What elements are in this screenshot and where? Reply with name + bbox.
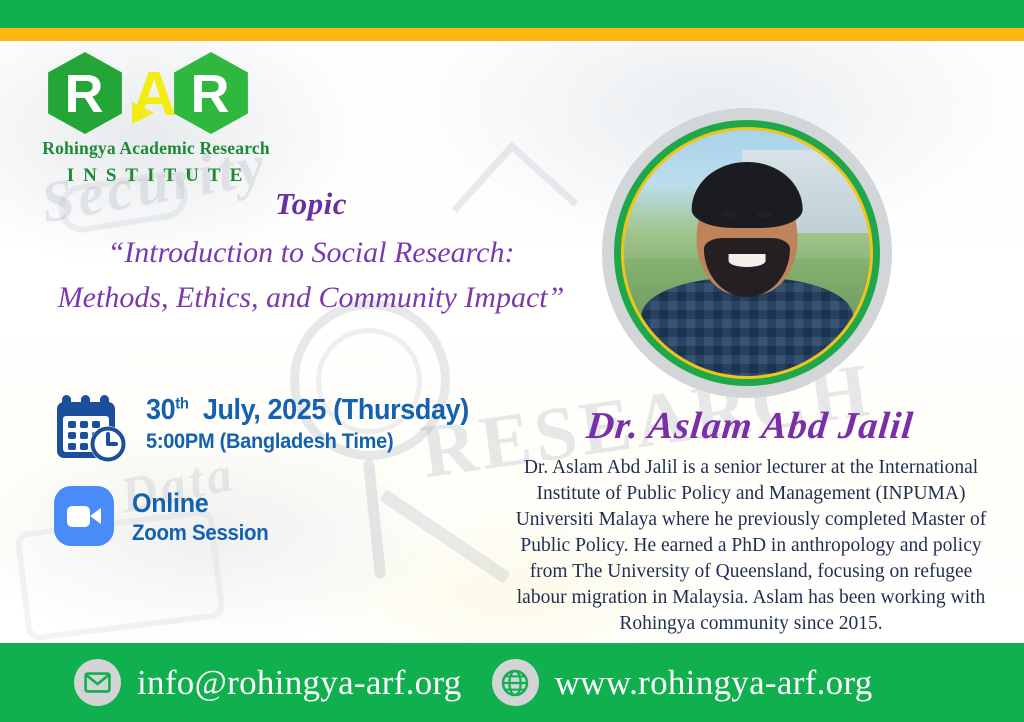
event-poster: Security Data RESEARCH R A R Rohingya Ac… xyxy=(0,0,1024,722)
top-green-band xyxy=(0,0,1024,28)
event-time: 5:00PM (Bangladesh Time) xyxy=(146,429,469,454)
zoom-camera-body xyxy=(67,506,90,527)
portrait-ring-yellow xyxy=(621,127,873,379)
schedule-date-text: 30th July, 2025 (Thursday) 5:00PM (Bangl… xyxy=(146,392,493,454)
portrait-eye-left xyxy=(722,211,737,217)
mode-text: Online Zoom Session xyxy=(132,486,279,546)
event-platform: Zoom Session xyxy=(132,520,268,546)
topic-title-line-1: “Introduction to Social Research: xyxy=(26,232,596,275)
event-date-rest: July, 2025 (Thursday) xyxy=(203,394,469,426)
zoom-camera-lens xyxy=(90,508,101,524)
logo-institute-word: INSTITUTE xyxy=(42,165,270,187)
schedule-date-block: 30th July, 2025 (Thursday) 5:00PM (Bangl… xyxy=(52,392,493,464)
portrait-ring-green xyxy=(614,120,880,386)
logo-hexagon-left-icon: R xyxy=(44,52,126,134)
event-date-ordinal: th xyxy=(175,395,188,412)
speaker-portrait-photo xyxy=(624,130,870,376)
topic-label: Topic xyxy=(26,186,596,222)
event-mode: Online xyxy=(132,488,268,519)
email-text: info@rohingya-arf.org xyxy=(137,663,462,703)
logo-marks: R A R xyxy=(42,52,272,134)
event-date: 30th July, 2025 (Thursday) xyxy=(146,394,469,427)
logo-letter-r-right: R xyxy=(191,67,230,121)
topic-block: Topic “Introduction to Social Research: … xyxy=(26,186,596,319)
schedule-mode-block: Online Zoom Session xyxy=(54,486,279,546)
speaker-portrait-frame xyxy=(602,108,892,398)
website-text: www.rohingya-arf.org xyxy=(555,663,873,703)
globe-glyph xyxy=(501,669,529,697)
portrait-eye-right xyxy=(757,211,772,217)
contact-email[interactable]: info@rohingya-arf.org xyxy=(74,659,462,706)
envelope-glyph xyxy=(84,672,111,693)
speaker-bio: Dr. Aslam Abd Jalil is a senior lecturer… xyxy=(506,455,996,636)
organization-logo: R A R Rohingya Academic Research INSTITU… xyxy=(42,52,272,187)
logo-triangle-icon xyxy=(132,102,154,124)
logo-letter-r-left: R xyxy=(65,67,104,121)
zoom-video-icon xyxy=(54,486,114,546)
logo-org-name: Rohingya Academic Research xyxy=(42,138,270,159)
top-yellow-stripe xyxy=(0,28,1024,41)
speaker-name: Dr. Aslam Abd Jalil xyxy=(508,404,993,448)
envelope-icon xyxy=(74,659,121,706)
contact-website[interactable]: www.rohingya-arf.org xyxy=(492,659,873,706)
zoom-camera-glyph xyxy=(67,506,101,527)
footer-contact-row: info@rohingya-arf.org www.rohingya-arf.o… xyxy=(0,643,1024,722)
calendar-clock-icon xyxy=(52,392,136,464)
event-date-day: 30 xyxy=(146,394,175,426)
globe-icon xyxy=(492,659,539,706)
topic-title-line-2: Methods, Ethics, and Community Impact” xyxy=(26,277,596,320)
